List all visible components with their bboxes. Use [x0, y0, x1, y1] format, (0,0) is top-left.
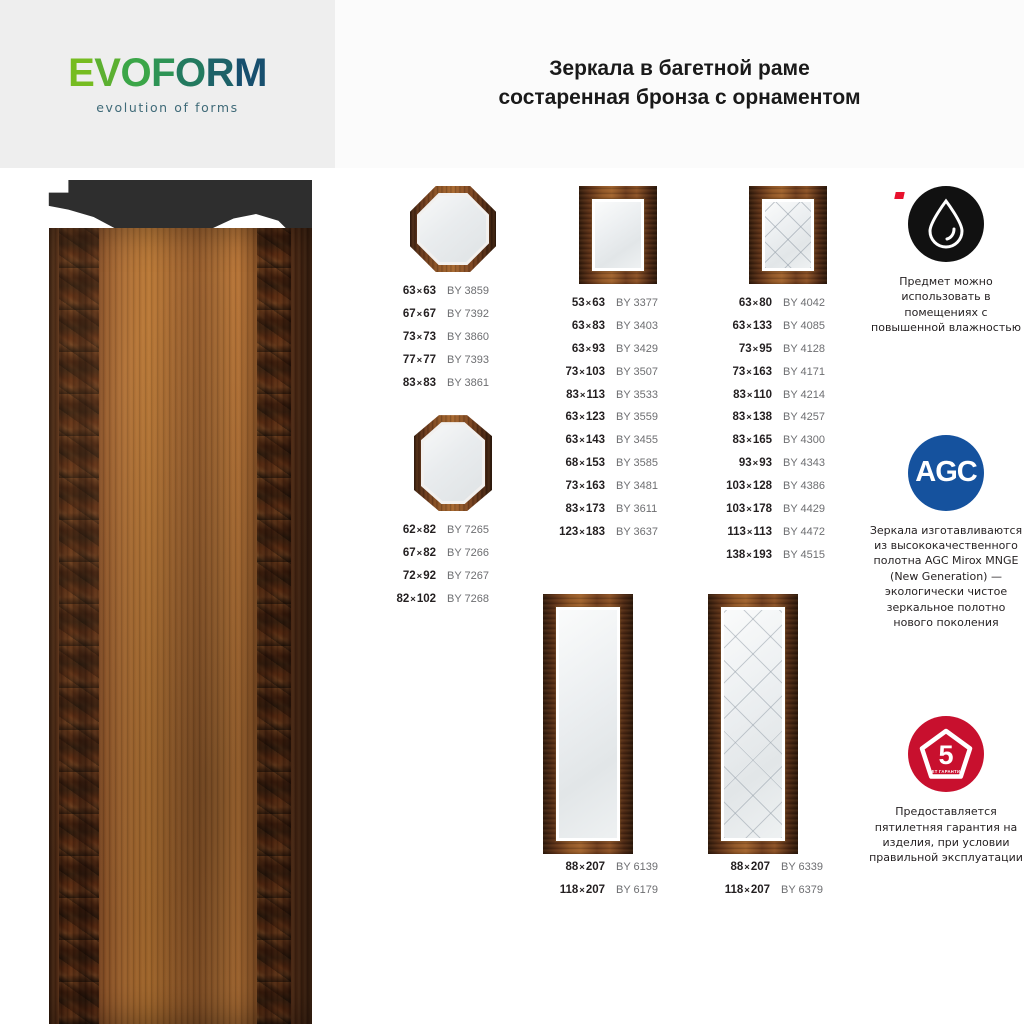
diamond-engraving-pattern	[765, 202, 811, 268]
agc-logo-icon: AGC	[908, 435, 984, 511]
size-dimension: 73×95	[708, 344, 772, 356]
size-row[interactable]: 73×103 BY 3507	[543, 367, 693, 379]
size-code: BY 4214	[783, 390, 825, 401]
brand-panel: EVOFORM evolution of forms	[0, 0, 335, 168]
size-list-tall-engraved: 88×207 BY 6339 118×207 BY 6379	[708, 862, 858, 908]
size-dimension: 63×63	[378, 286, 436, 298]
moulding-ornament-right	[257, 228, 291, 1024]
mirror-glass	[724, 610, 782, 838]
size-code: BY 3533	[616, 390, 658, 401]
size-dimension: 53×63	[543, 298, 605, 310]
size-code: BY 3860	[447, 332, 489, 343]
badge-wrap: AGC	[868, 435, 1024, 511]
product-column-rectangle-engraved: 63×80 BY 4042 63×133 BY 4085 73×95 BY 41…	[708, 186, 868, 573]
svg-text:5: 5	[938, 740, 953, 770]
size-row[interactable]: 68×153 BY 3585	[543, 458, 693, 470]
mirror-tall-engraved[interactable]	[708, 594, 798, 854]
size-row[interactable]: 83×173 BY 3611	[543, 504, 693, 516]
size-row[interactable]: 67×82 BY 7266	[378, 548, 528, 560]
size-code: BY 7268	[447, 594, 489, 605]
size-list-tall-plain: 88×207 BY 6139 118×207 BY 6179	[543, 862, 693, 908]
page-title-line-2: состаренная бронза с орнаментом	[498, 84, 860, 113]
size-code: BY 4171	[783, 367, 825, 378]
size-list-rectangle: 53×63 BY 3377 63×83 BY 3403 63×93 BY 342…	[543, 298, 693, 538]
size-row[interactable]: 83×165 BY 4300	[708, 435, 868, 447]
size-dimension: 62×82	[378, 525, 436, 537]
size-row[interactable]: 73×73 BY 3860	[378, 332, 528, 344]
logo-letter: R	[206, 53, 234, 93]
size-dimension: 113×113	[708, 527, 772, 539]
size-code: BY 3559	[616, 412, 658, 423]
size-row[interactable]: 73×95 BY 4128	[708, 344, 868, 356]
size-dimension: 83×138	[708, 412, 772, 424]
logo-letter: E	[68, 53, 94, 93]
agc-label: AGC	[915, 456, 976, 489]
size-code: BY 7267	[447, 571, 489, 582]
mirror-frame	[579, 186, 657, 284]
size-code: BY 3481	[616, 481, 658, 492]
mirror-octagon-vertical[interactable]	[378, 415, 528, 511]
moulding-wood-surface	[49, 228, 312, 1024]
size-dimension: 83×83	[378, 378, 436, 390]
agc-red-accent	[894, 192, 904, 199]
size-dimension: 63×133	[708, 321, 772, 333]
brand-tagline: evolution of forms	[96, 100, 239, 115]
mirror-rectangle-engraved[interactable]	[708, 186, 868, 284]
size-row[interactable]: 77×77 BY 7393	[378, 355, 528, 367]
size-dimension: 63×80	[708, 298, 772, 310]
size-dimension: 63×123	[543, 412, 605, 424]
size-code: BY 4257	[783, 412, 825, 423]
warranty-5-years-icon: 5 ЛЕТ ГАРАНТИИ	[908, 716, 984, 792]
mirror-glass	[424, 425, 482, 501]
size-dimension: 83×173	[543, 504, 605, 516]
size-dimension: 88×207	[543, 862, 605, 874]
size-code: BY 3403	[616, 321, 658, 332]
feature-text: Зеркала изготавливаются из высококачеств…	[868, 523, 1024, 631]
size-code: BY 3611	[616, 504, 657, 515]
page-title: Зеркала в багетной раме состаренная брон…	[498, 55, 860, 113]
size-dimension: 63×93	[543, 344, 605, 356]
size-row[interactable]: 82×102 BY 7268	[378, 594, 528, 606]
size-row[interactable]: 83×83 BY 3861	[378, 378, 528, 390]
logo-letter: O	[175, 53, 206, 93]
size-row[interactable]: 103×128 BY 4386	[708, 481, 868, 493]
title-panel: Зеркала в багетной раме состаренная брон…	[335, 0, 1024, 168]
size-dimension: 118×207	[543, 885, 605, 897]
size-row[interactable]: 123×183 BY 3637	[543, 527, 693, 539]
mirror-octagon-square[interactable]	[378, 186, 528, 272]
badge-wrap: 5 ЛЕТ ГАРАНТИИ	[868, 716, 1024, 792]
size-dimension: 73×163	[543, 481, 605, 493]
size-code: BY 4128	[783, 344, 825, 355]
size-dimension: 83×110	[708, 390, 772, 402]
size-dimension: 103×178	[708, 504, 772, 516]
size-row[interactable]: 83×138 BY 4257	[708, 412, 868, 424]
size-row[interactable]: 63×133 BY 4085	[708, 321, 868, 333]
mirror-glass	[559, 610, 617, 838]
size-code: BY 4343	[783, 458, 825, 469]
size-code: BY 4085	[783, 321, 825, 332]
size-row[interactable]: 138×193 BY 4515	[708, 550, 868, 562]
size-code: BY 6339	[781, 862, 823, 873]
moulding-ornament-left	[59, 228, 99, 1024]
size-row[interactable]: 63×93 BY 3429	[543, 344, 693, 356]
page-header: EVOFORM evolution of forms Зеркала в баг…	[0, 0, 1024, 168]
size-row[interactable]: 63×80 BY 4042	[708, 298, 868, 310]
badge-wrap	[868, 186, 1024, 262]
frame-moulding-photo	[32, 180, 312, 1024]
size-code: BY 3585	[616, 458, 658, 469]
size-row[interactable]: 83×113 BY 3533	[543, 390, 693, 402]
size-dimension: 83×113	[543, 390, 605, 402]
water-drop-icon	[908, 186, 984, 262]
size-dimension: 72×92	[378, 571, 436, 583]
size-dimension: 93×93	[708, 458, 772, 470]
size-row[interactable]: 63×143 BY 3455	[543, 435, 693, 447]
mirror-frame	[410, 186, 496, 272]
size-row[interactable]: 62×82 BY 7265	[378, 525, 528, 537]
size-code: BY 3637	[616, 527, 658, 538]
size-code: BY 6179	[616, 885, 658, 896]
diamond-engraving-pattern	[724, 610, 782, 838]
size-dimension: 67×67	[378, 309, 436, 321]
size-row[interactable]: 83×110 BY 4214	[708, 390, 868, 402]
svg-text:ЛЕТ ГАРАНТИИ: ЛЕТ ГАРАНТИИ	[928, 769, 963, 774]
size-code: BY 6379	[781, 885, 823, 896]
size-dimension: 63×143	[543, 435, 605, 447]
size-dimension: 138×193	[708, 550, 772, 562]
feature-text: Предмет можно использовать в помещениях …	[868, 274, 1024, 336]
size-code: BY 6139	[616, 862, 658, 873]
size-dimension: 123×183	[543, 527, 605, 539]
size-row[interactable]: 118×207 BY 6379	[708, 885, 858, 897]
size-code: BY 3859	[447, 286, 489, 297]
size-dimension: 118×207	[708, 885, 770, 897]
size-code: BY 4042	[783, 298, 825, 309]
size-dimension: 73×73	[378, 332, 436, 344]
size-row[interactable]: 103×178 BY 4429	[708, 504, 868, 516]
size-list-octagon-vertical: 62×82 BY 7265 67×82 BY 7266 72×92 BY 726…	[378, 525, 528, 605]
size-dimension: 83×165	[708, 435, 772, 447]
size-row[interactable]: 67×67 BY 7392	[378, 309, 528, 321]
mirror-frame	[414, 415, 492, 511]
brand-logo: EVOFORM	[68, 53, 267, 93]
logo-letter: F	[151, 53, 175, 93]
size-code: BY 3507	[616, 367, 658, 378]
size-row[interactable]: 63×123 BY 3559	[543, 412, 693, 424]
size-dimension: 88×207	[708, 862, 770, 874]
size-code: BY 4515	[783, 550, 825, 561]
size-row[interactable]: 53×63 BY 3377	[543, 298, 693, 310]
size-code: BY 4300	[783, 435, 825, 446]
size-dimension: 68×153	[543, 458, 605, 470]
mirror-frame	[749, 186, 827, 284]
size-row[interactable]: 63×83 BY 3403	[543, 321, 693, 333]
size-code: BY 7266	[447, 548, 489, 559]
size-code: BY 3377	[616, 298, 658, 309]
feature-agc-glass: AGC Зеркала изготавливаются из высококач…	[868, 435, 1024, 631]
logo-letter: M	[234, 53, 267, 93]
size-dimension: 82×102	[378, 594, 436, 606]
feature-badges: Предмет можно использовать в помещениях …	[868, 186, 1024, 866]
mirror-glass	[765, 202, 811, 268]
size-dimension: 103×128	[708, 481, 772, 493]
mirror-glass	[595, 202, 641, 268]
size-row[interactable]: 72×92 BY 7267	[378, 571, 528, 583]
product-column-octagon: 63×63 BY 3859 67×67 BY 7392 73×73 BY 386…	[378, 186, 528, 617]
size-row[interactable]: 88×207 BY 6139	[543, 862, 693, 874]
size-row[interactable]: 88×207 BY 6339	[708, 862, 858, 874]
size-dimension: 77×77	[378, 355, 436, 367]
size-dimension: 73×103	[543, 367, 605, 379]
size-code: BY 7392	[447, 309, 489, 320]
size-dimension: 67×82	[378, 548, 436, 560]
size-row[interactable]: 113×113 BY 4472	[708, 527, 868, 539]
size-code: BY 4386	[783, 481, 825, 492]
logo-letter: V	[94, 53, 120, 93]
feature-warranty: 5 ЛЕТ ГАРАНТИИ Предоставляется пятилетня…	[868, 716, 1024, 866]
size-row[interactable]: 118×207 BY 6179	[543, 885, 693, 897]
mirror-tall-plain[interactable]	[543, 594, 633, 854]
size-row[interactable]: 63×63 BY 3859	[378, 286, 528, 298]
size-row[interactable]: 73×163 BY 3481	[543, 481, 693, 493]
feature-moisture: Предмет можно использовать в помещениях …	[868, 186, 1024, 336]
size-dimension: 63×83	[543, 321, 605, 333]
size-code: BY 3429	[616, 344, 658, 355]
feature-text: Предоставляется пятилетняя гарантия на и…	[868, 804, 1024, 866]
logo-letter: O	[120, 53, 151, 93]
product-column-rectangle: 53×63 BY 3377 63×83 BY 3403 63×93 BY 342…	[543, 186, 693, 550]
size-code: BY 3455	[616, 435, 658, 446]
size-list-octagon-square: 63×63 BY 3859 67×67 BY 7392 73×73 BY 386…	[378, 286, 528, 389]
size-code: BY 4429	[783, 504, 825, 515]
size-list-rectangle-engraved: 63×80 BY 4042 63×133 BY 4085 73×95 BY 41…	[708, 298, 868, 561]
size-row[interactable]: 73×163 BY 4171	[708, 367, 868, 379]
size-code: BY 3861	[447, 378, 489, 389]
size-code: BY 7393	[447, 355, 489, 366]
mirror-rectangle-plain[interactable]	[543, 186, 693, 284]
page-title-line-1: Зеркала в багетной раме	[498, 55, 860, 84]
size-code: BY 7265	[447, 525, 489, 536]
size-row[interactable]: 93×93 BY 4343	[708, 458, 868, 470]
size-dimension: 73×163	[708, 367, 772, 379]
size-code: BY 4472	[783, 527, 825, 538]
